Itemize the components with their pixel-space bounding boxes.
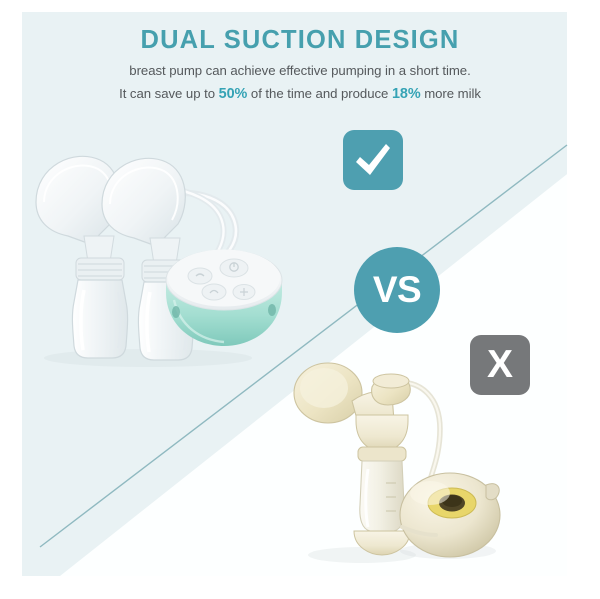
check-icon <box>353 141 393 179</box>
check-badge <box>343 130 403 190</box>
x-icon: X <box>487 345 513 384</box>
manual-pump-motor <box>400 473 500 557</box>
stat-time-saved: 50% <box>219 86 248 102</box>
subtitle-part-1: It can save up to <box>119 86 219 101</box>
subtitle-part-2: of the time and produce <box>247 86 392 101</box>
versus-badge: VS <box>354 247 440 333</box>
cross-badge: X <box>470 335 530 395</box>
manual-pump-shield <box>294 363 410 461</box>
infographic-root: DUAL SUCTION DESIGN breast pump can achi… <box>0 0 600 599</box>
subtitle-line-2: It can save up to 50% of the time and pr… <box>0 83 600 105</box>
subtitle-line-1: breast pump can achieve effective pumpin… <box>0 61 600 81</box>
page-title: DUAL SUCTION DESIGN <box>0 26 600 54</box>
versus-label: VS <box>373 271 421 308</box>
product-image-dual-electric-pump <box>28 140 278 370</box>
subtitle-part-3: more milk <box>421 86 481 101</box>
stat-more-milk: 18% <box>392 86 421 102</box>
header-block: DUAL SUCTION DESIGN breast pump can achi… <box>0 26 600 105</box>
